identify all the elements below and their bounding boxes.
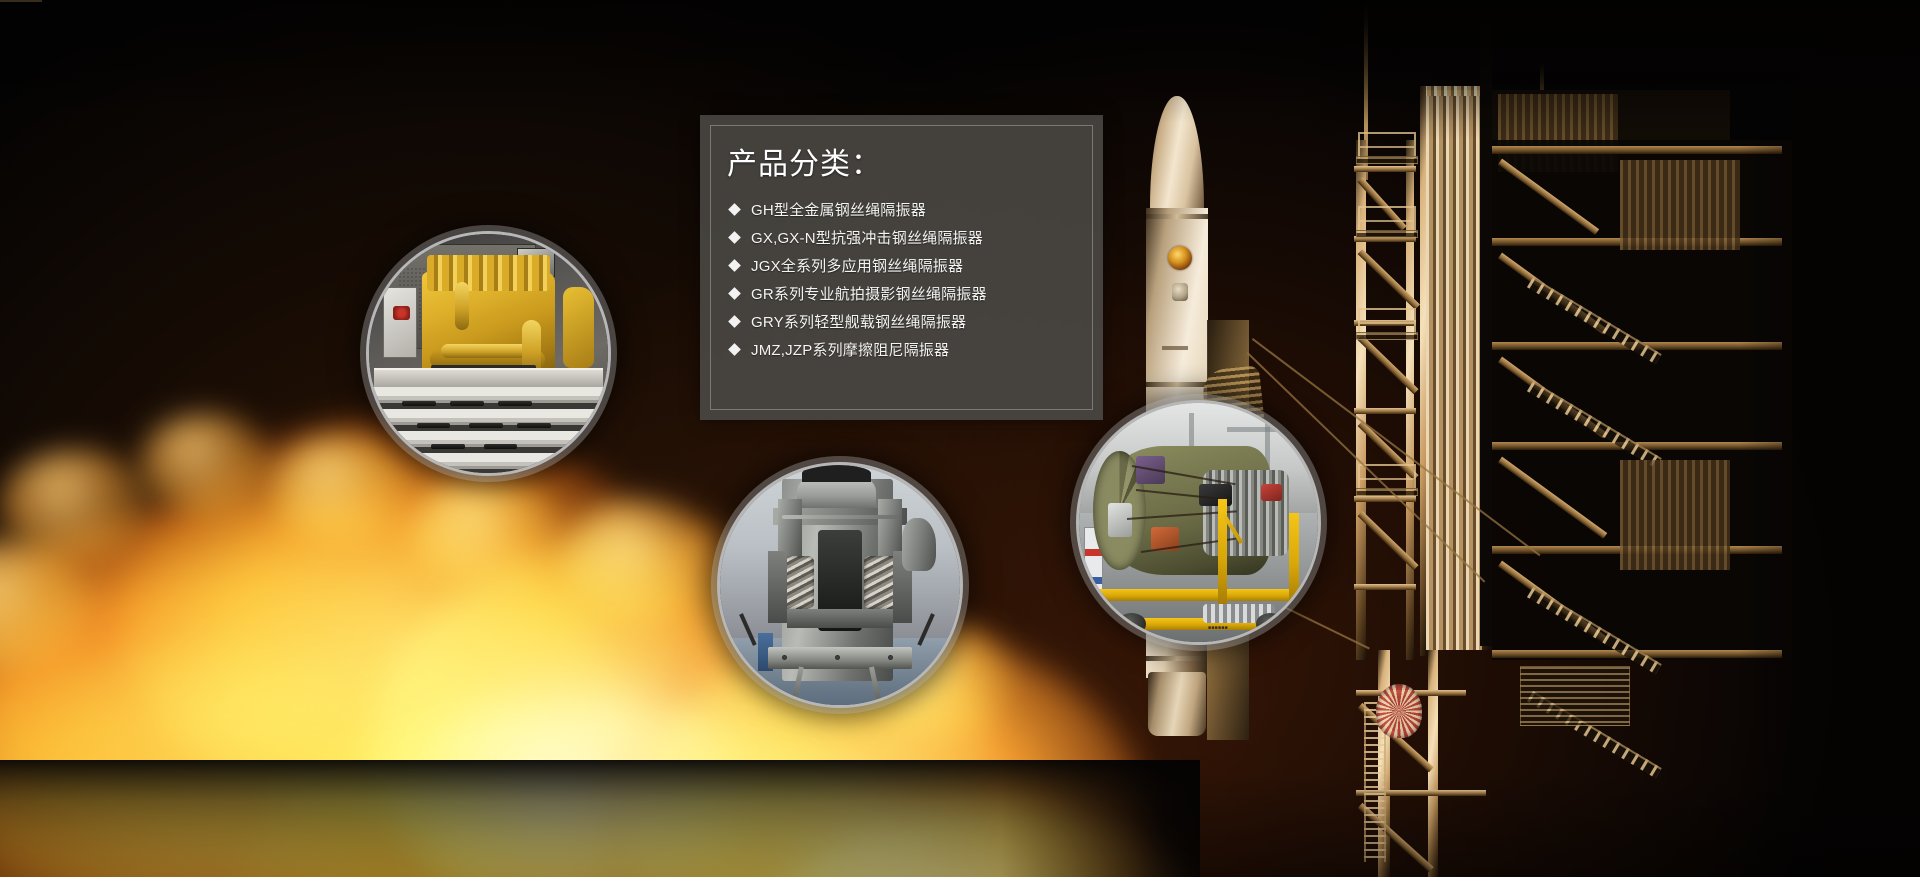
list-item[interactable]: GR系列专业航拍摄影钢丝绳隔振器 — [730, 281, 1085, 306]
diamond-bullet-icon — [728, 231, 741, 244]
rocket-nose-cone — [1150, 96, 1204, 214]
photo-circle-wire-rope-isolator[interactable] — [717, 462, 963, 708]
banner-scene: Delta — [0, 0, 1920, 877]
list-item-label: GR系列专业航拍摄影钢丝绳隔振器 — [751, 283, 987, 304]
cradle-label: ■■■■■■ — [1208, 625, 1228, 631]
list-item[interactable]: JGX全系列多应用钢丝绳隔振器 — [730, 253, 1085, 278]
mission-patch-secondary-icon — [1172, 283, 1188, 301]
product-category-panel: 产品分类： GH型全金属钢丝绳隔振器 GX,GX-N型抗强冲击钢丝绳隔振器 JG… — [700, 115, 1103, 420]
diamond-bullet-icon — [728, 343, 741, 356]
list-item-label: JGX全系列多应用钢丝绳隔振器 — [751, 255, 963, 276]
list-item-label: JMZ,JZP系列摩擦阻尼隔振器 — [751, 339, 949, 360]
list-item[interactable]: GX,GX-N型抗强冲击钢丝绳隔振器 — [730, 225, 1085, 250]
list-item[interactable]: GRY系列轻型舰载钢丝绳隔振器 — [730, 309, 1085, 334]
list-item[interactable]: GH型全金属钢丝绳隔振器 — [730, 197, 1085, 222]
photo-circle-turbine-engine[interactable]: ■■■■■■ — [1076, 400, 1321, 645]
photo-circle-diesel-generator[interactable] — [366, 231, 611, 476]
list-item-label: GH型全金属钢丝绳隔振器 — [751, 199, 926, 220]
tower-dish-icon — [1376, 684, 1422, 738]
panel-title: 产品分类： — [727, 139, 882, 183]
list-item-label: GRY系列轻型舰载钢丝绳隔振器 — [751, 311, 966, 332]
diamond-bullet-icon — [728, 203, 741, 216]
list-item-label: GX,GX-N型抗强冲击钢丝绳隔振器 — [751, 227, 983, 248]
mission-patch-icon — [1168, 246, 1192, 270]
product-category-list: GH型全金属钢丝绳隔振器 GX,GX-N型抗强冲击钢丝绳隔振器 JGX全系列多应… — [730, 197, 1085, 365]
diamond-bullet-icon — [728, 315, 741, 328]
list-item[interactable]: JMZ,JZP系列摩擦阻尼隔振器 — [730, 337, 1085, 362]
diamond-bullet-icon — [728, 259, 741, 272]
diamond-bullet-icon — [728, 287, 741, 300]
launch-tower — [1320, 0, 1920, 877]
